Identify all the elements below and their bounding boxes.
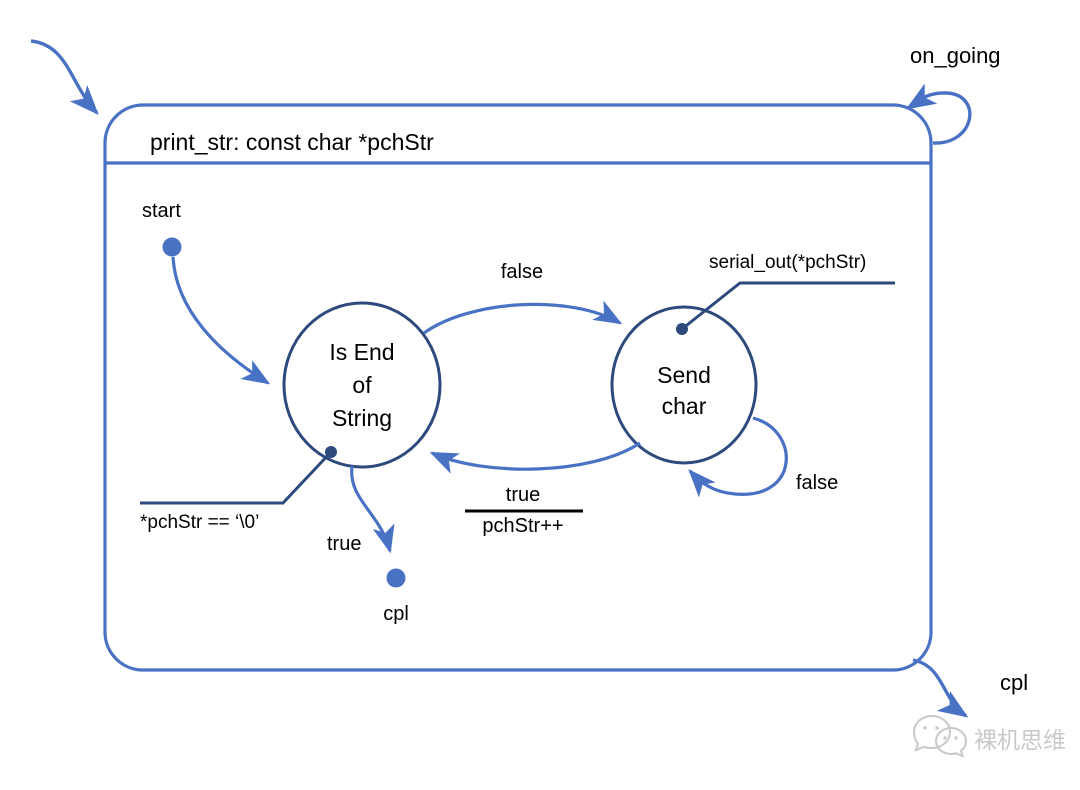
- start-label: start: [142, 200, 181, 222]
- outer-state-box: print_str: const char *pchStr: [105, 105, 931, 670]
- annotation-serial-out-call-text: serial_out(*pchStr): [709, 252, 866, 273]
- state-machine-diagram: print_str: const char *pchStr on_going c…: [0, 0, 1080, 790]
- watermark-text: 裸机思维: [974, 727, 1066, 753]
- state-send-char-line-2: char: [662, 393, 707, 419]
- transition-send-char-to-is-end-guard: true: [506, 484, 540, 506]
- state-is-end-of-string-line-1: Is End: [329, 339, 394, 365]
- annotation-pchstr-null-check-text: *pchStr == ‘\0’: [140, 512, 259, 533]
- entry-arrow-path: [31, 41, 97, 113]
- exit-arrow-cpl: cpl: [913, 660, 1028, 716]
- watermark: 裸机思维: [914, 716, 1066, 756]
- exit-cpl-label: cpl: [1000, 670, 1028, 695]
- entry-arrow: [31, 41, 97, 113]
- outer-state-box-outline: [105, 105, 931, 670]
- on-going-label: on_going: [910, 43, 1001, 68]
- exit-arrow-cpl-path: [913, 660, 966, 716]
- cpl-node-dot: [387, 569, 406, 588]
- state-send-char-line-1: Send: [657, 362, 711, 388]
- cpl-node-label: cpl: [383, 603, 409, 625]
- wechat-icon: [914, 716, 966, 756]
- outer-state-box-title: print_str: const char *pchStr: [150, 129, 434, 155]
- transition-is-end-to-send-char-label: false: [501, 261, 543, 283]
- state-is-end-of-string-line-3: String: [332, 405, 392, 431]
- transition-send-char-self-loop-label: false: [796, 472, 838, 494]
- state-is-end-of-string[interactable]: Is End of String: [284, 303, 440, 467]
- state-is-end-of-string-line-2: of: [352, 372, 372, 398]
- transition-send-char-to-is-end-action: pchStr++: [482, 515, 563, 537]
- start-node-dot: [163, 238, 182, 257]
- transition-is-end-to-cpl-label: true: [327, 533, 361, 555]
- diagram-canvas: print_str: const char *pchStr on_going c…: [0, 0, 1080, 790]
